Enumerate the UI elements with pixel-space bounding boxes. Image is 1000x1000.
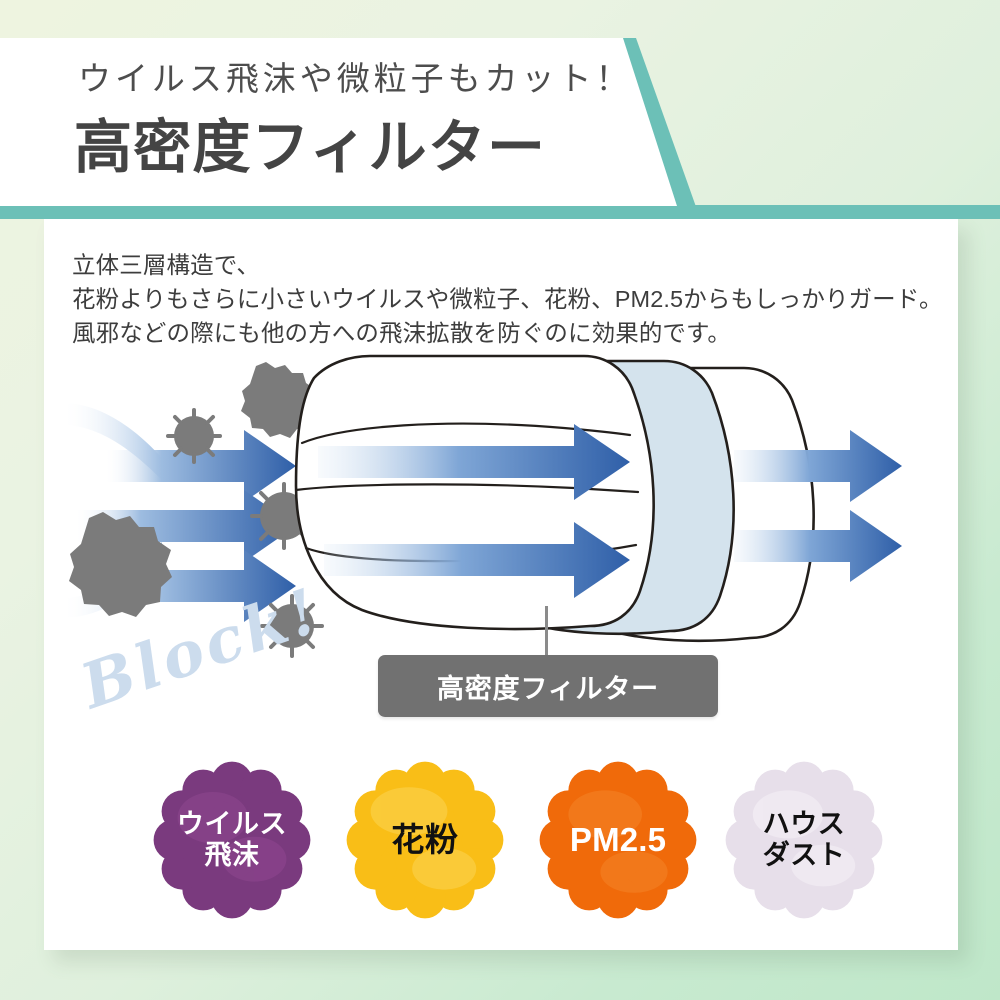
filter-callout: 高密度フィルター <box>378 655 718 717</box>
badge-label: ハウス ダスト <box>763 809 846 872</box>
badge-label: 花粉 <box>391 821 458 859</box>
page-title: 高密度フィルター <box>74 100 546 184</box>
mask-cross-section-diagram <box>44 218 958 678</box>
badge-virus-droplet: ウイルス 飛沫 <box>152 760 312 920</box>
badge-house-dust: ハウス ダスト <box>724 760 884 920</box>
header-kicker: ウイルス飛沫や微粒子もカット！ <box>78 52 632 100</box>
badge-label: ウイルス 飛沫 <box>177 809 287 872</box>
mask-layer-outer <box>296 356 654 629</box>
badge-pollen: 花粉 <box>345 760 505 920</box>
callout-leader-line <box>545 606 548 660</box>
badge-label: PM2.5 <box>570 821 666 859</box>
blocked-particles-badge-row: ウイルス 飛沫 花粉 <box>0 756 1000 936</box>
poster-canvas: ウイルス飛沫や微粒子もカット！ 高密度フィルター 立体三層構造で、 花粉よりもさ… <box>0 0 1000 1000</box>
badge-pm25: PM2.5 <box>538 760 698 920</box>
filter-callout-label: 高密度フィルター <box>437 667 659 706</box>
